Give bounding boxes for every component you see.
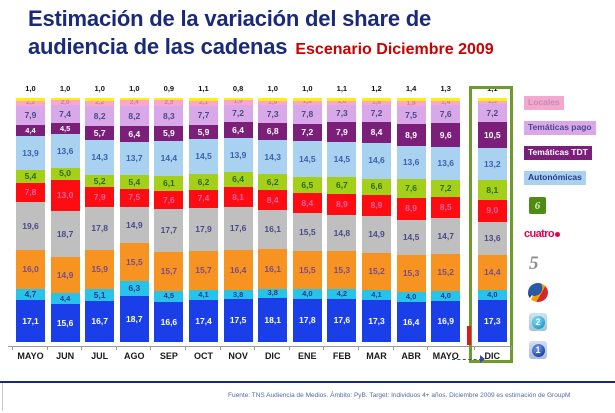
bar-segment[interactable]: 4,2 — [327, 289, 356, 299]
bar-segment[interactable]: 14,9 — [362, 216, 391, 252]
legend-item-antena3[interactable] — [528, 283, 614, 302]
bar-value-label: 8,2 — [128, 112, 140, 121]
x-axis-tick — [47, 346, 48, 350]
bar-segment[interactable]: 17,5 — [224, 299, 253, 342]
x-axis-tick — [254, 346, 255, 350]
bar-value-label: 15,3 — [334, 266, 351, 275]
bar-segment[interactable]: 14,5 — [189, 139, 218, 174]
bar-value-label: 15,5 — [299, 266, 316, 275]
bar-value-label: 8,4 — [371, 128, 383, 137]
chart-legend: Locales Temáticas pago Temáticas TDT Aut… — [524, 92, 614, 342]
bar-segment[interactable]: 16,6 — [154, 302, 183, 343]
bar-value-label: 7,8 — [301, 110, 313, 119]
bar-value-label: 19,6 — [22, 222, 39, 231]
bar-segment[interactable]: 7,2 — [224, 105, 253, 123]
bar-segment[interactable]: 17,8 — [85, 207, 114, 250]
bar-value-label: 15,5 — [299, 228, 316, 237]
bar-column[interactable]: 1,02,48,26,413,75,47,514,915,56,318,7 — [120, 98, 149, 342]
x-axis-tick — [116, 346, 117, 350]
bar-segment[interactable]: 8,1 — [224, 187, 253, 207]
bar-segment[interactable]: 15,2 — [431, 254, 460, 291]
bar-segment[interactable]: 16,0 — [16, 250, 45, 289]
title-line2-row: audiencia de las cadenasEscenario Diciem… — [28, 34, 588, 63]
bar-segment[interactable]: 5,4 — [16, 170, 45, 183]
bar-value-label: 14,3 — [264, 153, 281, 162]
bar-segment[interactable]: 14,9 — [120, 207, 149, 243]
bar-segment[interactable]: 15,7 — [154, 252, 183, 290]
bar-value-label: 16,0 — [22, 265, 39, 274]
bar-segment[interactable]: 17,7 — [154, 209, 183, 252]
bar-value-label: 17,6 — [230, 224, 247, 233]
bar-value-label: 6,6 — [371, 182, 383, 191]
bar-value-label: 7,9 — [94, 193, 106, 202]
bar-value-label: 7,5 — [128, 193, 140, 202]
bar-segment[interactable]: 14,4 — [154, 141, 183, 176]
bar-value-label: 5,4 — [25, 172, 37, 181]
bar-value-label: 4,0 — [302, 290, 312, 298]
bar-value-label: 8,9 — [405, 131, 417, 140]
la1-logo-icon: 1 — [529, 341, 547, 359]
bar-segment[interactable]: 4,4 — [16, 125, 45, 136]
bar-value-label: 8,4 — [301, 199, 313, 208]
bar-column[interactable]: 1,02,07,44,513,65,013,018,714,94,415,6 — [51, 98, 80, 342]
bar-segment[interactable]: 6,3 — [120, 281, 149, 296]
bar-segment[interactable]: 15,5 — [120, 243, 149, 281]
x-axis-tick — [81, 346, 82, 350]
bar-value-label: 7,2 — [232, 109, 244, 118]
bar-top-value-label: 1,4 — [397, 84, 426, 93]
bar-column[interactable]: 1,31,47,69,613,67,28,514,715,24,016,9 — [431, 98, 460, 342]
bar-value-label: 7,7 — [198, 111, 210, 120]
bar-value-label: 4,1 — [371, 291, 381, 299]
bar-segment[interactable]: 6,4 — [224, 122, 253, 138]
footer-divider — [0, 381, 615, 383]
bar-segment[interactable]: 7,3 — [327, 105, 356, 123]
bar-value-label: 14,5 — [334, 155, 351, 164]
bar-column[interactable]: 1,11,67,37,914,56,78,914,815,34,217,6 — [327, 98, 356, 342]
bar-value-label: 14,6 — [368, 156, 385, 165]
bar-segment[interactable]: 8,9 — [397, 198, 426, 220]
legend-item-locales[interactable]: Locales — [524, 92, 614, 110]
legend-item-cuatro[interactable]: cuatro — [524, 224, 614, 242]
bar-segment[interactable]: 16,9 — [431, 301, 460, 342]
legend-chip-locales: Locales — [524, 96, 564, 110]
bar-segment[interactable]: 6,4 — [224, 172, 253, 188]
bar-column[interactable]: 0,81,97,26,413,96,48,117,616,43,817,5 — [224, 98, 253, 342]
bar-segment[interactable]: 15,3 — [397, 255, 426, 292]
bar-value-label: 13,0 — [57, 191, 74, 200]
bar-value-label: 4,4 — [60, 295, 70, 303]
bar-column[interactable]: 1,02,28,25,714,35,27,917,815,95,116,7 — [85, 98, 114, 342]
bar-top-value-label: 1,0 — [293, 84, 322, 93]
bar-column[interactable]: 1,01,87,87,214,56,58,415,515,54,017,8 — [293, 98, 322, 342]
bar-column[interactable]: 0,92,38,35,914,46,17,617,715,74,516,6 — [154, 98, 183, 342]
page-title-line1: Estimación de la variación del share de — [28, 6, 588, 32]
bar-value-label: 16,1 — [264, 225, 281, 234]
bar-segment[interactable]: 8,5 — [431, 197, 460, 218]
bar-segment[interactable]: 14,8 — [327, 215, 356, 251]
bar-value-label: 16,4 — [230, 266, 247, 275]
lasexta-logo-icon: 6 — [529, 197, 546, 214]
bar-value-label: 5,9 — [198, 128, 210, 137]
bar-segment[interactable]: 15,9 — [85, 250, 114, 289]
bar-value-label: 15,6 — [57, 319, 74, 328]
bar-segment[interactable]: 9,6 — [431, 123, 460, 146]
bar-segment[interactable]: 7,5 — [397, 106, 426, 124]
bar-value-label: 15,2 — [368, 267, 385, 276]
bar-value-label: 9,6 — [440, 131, 452, 140]
bar-value-label: 14,4 — [161, 154, 178, 163]
bar-segment[interactable]: 8,4 — [362, 122, 391, 143]
bar-value-label: 7,2 — [301, 128, 313, 137]
bar-value-label: 8,4 — [267, 196, 279, 205]
bar-segment[interactable]: 7,9 — [327, 122, 356, 141]
bar-segment[interactable]: 7,4 — [189, 190, 218, 208]
bar-column[interactable]: 1,21,67,28,414,66,68,914,915,24,117,3 — [362, 98, 391, 342]
bar-segment[interactable]: 13,6 — [51, 134, 80, 167]
bar-segment[interactable]: 7,2 — [362, 105, 391, 123]
bar-segment[interactable]: 14,5 — [397, 220, 426, 255]
legend-item-lasexta[interactable]: 6 — [529, 197, 614, 214]
bar-segment[interactable]: 19,6 — [16, 202, 45, 250]
bar-value-label: 14,3 — [91, 153, 108, 162]
bar-segment[interactable]: 17,9 — [189, 208, 218, 252]
legend-item-tematicas-pago[interactable]: Temáticas pago — [524, 117, 614, 135]
bar-value-label: 16,9 — [437, 317, 454, 326]
bar-segment[interactable]: 17,6 — [224, 207, 253, 250]
bar-value-label: 13,6 — [57, 147, 74, 156]
bar-segment[interactable]: 8,9 — [327, 194, 356, 216]
bar-segment[interactable]: 8,9 — [362, 195, 391, 217]
bar-value-label: 17,3 — [368, 317, 385, 326]
bar-top-value-label: 1,1 — [327, 84, 356, 93]
bar-value-label: 8,2 — [94, 112, 106, 121]
bar-top-value-label: 0,8 — [224, 84, 253, 93]
bar-value-label: 5,2 — [94, 177, 106, 186]
bar-value-label: 17,8 — [299, 316, 316, 325]
bar-segment[interactable]: 3,8 — [224, 290, 253, 299]
bar-segment[interactable]: 5,0 — [51, 168, 80, 180]
telecinco-logo-icon: 5 — [529, 254, 550, 273]
bar-value-label: 15,9 — [91, 265, 108, 274]
bar-segment[interactable]: 18,1 — [258, 298, 287, 342]
bar-segment[interactable]: 17,6 — [327, 299, 356, 342]
bar-segment[interactable]: 6,8 — [258, 123, 287, 140]
bar-value-label: 4,0 — [440, 292, 450, 300]
bar-segment[interactable]: 16,7 — [85, 301, 114, 342]
legend-chip-tematicas-tdt: Temáticas TDT — [524, 146, 592, 160]
bar-value-label: 13,6 — [403, 158, 420, 167]
x-axis-tick — [511, 346, 512, 350]
bar-segment[interactable]: 8,4 — [293, 193, 322, 214]
x-axis-label: MAYO — [426, 351, 466, 361]
bar-value-label: 16,7 — [91, 317, 108, 326]
bar-segment[interactable]: 6,7 — [327, 177, 356, 193]
bar-segment[interactable]: 16,4 — [397, 302, 426, 342]
bar-segment[interactable]: 16,1 — [258, 210, 287, 249]
bar-value-label: 8,9 — [336, 200, 348, 209]
bar-segment[interactable]: 5,9 — [189, 125, 218, 139]
bar-value-label: 7,8 — [25, 188, 37, 197]
x-axis-tick — [358, 346, 359, 350]
bar-segment[interactable]: 7,7 — [189, 106, 218, 125]
x-axis-tick — [220, 346, 221, 350]
bar-segment[interactable]: 13,9 — [224, 138, 253, 172]
x-axis-tick — [427, 346, 428, 350]
bar-segment[interactable]: 7,2 — [431, 180, 460, 198]
bar-segment[interactable]: 17,1 — [16, 300, 45, 342]
bar-value-label: 13,9 — [22, 149, 39, 158]
bar-segment[interactable]: 7,6 — [397, 179, 426, 198]
stacked-bar-chart: 1,02,27,94,413,95,47,819,616,04,717,11,0… — [0, 84, 520, 346]
bar-value-label: 17,8 — [91, 224, 108, 233]
x-axis-tick — [185, 346, 186, 350]
bar-value-label: 6,2 — [267, 178, 279, 187]
bar-segment[interactable]: 5,9 — [154, 126, 183, 140]
bar-segment[interactable]: 8,9 — [397, 124, 426, 146]
bar-segment[interactable]: 14,5 — [327, 142, 356, 177]
bar-value-label: 13,9 — [230, 151, 247, 160]
bar-segment[interactable]: 17,8 — [293, 299, 322, 342]
bar-value-label: 17,4 — [195, 317, 212, 326]
legend-item-tematicas-tdt[interactable]: Temáticas TDT — [524, 142, 614, 160]
bar-value-label: 17,6 — [334, 316, 351, 325]
bar-segment[interactable]: 7,6 — [431, 105, 460, 124]
la2-logo-icon: 2 — [529, 313, 547, 331]
bar-value-label: 17,7 — [161, 226, 178, 235]
bar-value-label: 7,2 — [440, 184, 452, 193]
bar-value-label: 7,5 — [405, 111, 417, 120]
bar-value-label: 6,3 — [128, 284, 140, 293]
bar-segment[interactable]: 4,1 — [189, 290, 218, 300]
bar-value-label: 8,3 — [163, 112, 175, 121]
bar-segment[interactable]: 7,4 — [51, 105, 80, 123]
bar-column[interactable]: 1,01,97,36,814,36,28,416,116,13,818,1 — [258, 98, 287, 342]
x-axis-tick — [393, 346, 394, 350]
bar-value-label: 5,9 — [163, 129, 175, 138]
bar-value-label: 4,4 — [25, 127, 35, 135]
bar-segment[interactable]: 14,9 — [51, 257, 80, 293]
bar-value-label: 18,7 — [57, 230, 74, 239]
bar-top-value-label: 1,3 — [431, 84, 460, 93]
bar-segment[interactable]: 15,3 — [327, 251, 356, 288]
bar-segment[interactable]: 8,2 — [120, 106, 149, 126]
bar-value-label: 15,2 — [437, 268, 454, 277]
bar-segment[interactable]: 8,2 — [85, 106, 114, 126]
bar-value-label: 7,4 — [59, 110, 71, 119]
bar-value-label: 6,8 — [267, 127, 279, 136]
x-axis-tick — [289, 346, 290, 350]
bar-segment[interactable]: 13,0 — [51, 180, 80, 212]
bar-segment[interactable]: 17,4 — [189, 300, 218, 342]
bar-segment[interactable]: 4,1 — [362, 290, 391, 300]
bar-segment[interactable]: 7,8 — [16, 183, 45, 202]
bar-value-label: 14,9 — [57, 271, 74, 280]
bar-value-label: 4,5 — [60, 125, 70, 133]
bar-value-label: 14,5 — [195, 152, 212, 161]
bar-value-label: 15,3 — [403, 269, 420, 278]
legend-item-autonomicas[interactable]: Autonómicas — [524, 167, 614, 185]
bar-segment[interactable]: 6,2 — [189, 174, 218, 189]
bar-value-label: 15,7 — [195, 266, 212, 275]
bar-value-label: 4,1 — [198, 291, 208, 299]
bar-value-label: 5,4 — [128, 178, 140, 187]
december-highlight-box — [469, 86, 513, 363]
bar-value-label: 6,2 — [198, 178, 210, 187]
bar-segment[interactable]: 4,5 — [51, 123, 80, 134]
bar-value-label: 6,7 — [336, 181, 348, 190]
bar-segment[interactable]: 6,1 — [154, 176, 183, 191]
bar-segment[interactable]: 16,4 — [224, 250, 253, 290]
bar-value-label: 14,5 — [299, 155, 316, 164]
bar-segment[interactable]: 13,9 — [16, 136, 45, 170]
bar-column[interactable]: 1,02,27,94,413,95,47,819,616,04,717,1 — [16, 98, 45, 342]
bar-segment[interactable]: 15,5 — [293, 213, 322, 251]
bar-value-label: 18,1 — [264, 316, 281, 325]
bar-segment[interactable]: 4,0 — [431, 291, 460, 301]
bar-value-label: 3,8 — [267, 289, 277, 297]
bar-segment[interactable]: 14,3 — [85, 140, 114, 175]
bar-value-label: 7,6 — [163, 196, 175, 205]
x-axis-tick — [12, 346, 13, 350]
bar-segment[interactable]: 14,7 — [431, 218, 460, 254]
bar-value-label: 17,5 — [230, 316, 247, 325]
bar-column[interactable]: 1,12,17,75,914,56,27,417,915,74,117,4 — [189, 98, 218, 342]
bar-value-label: 4,0 — [406, 293, 416, 301]
bar-value-label: 14,9 — [368, 230, 385, 239]
red-marker — [467, 326, 471, 345]
bar-segment[interactable]: 7,8 — [293, 105, 322, 124]
bar-segment[interactable]: 15,2 — [362, 253, 391, 290]
bar-segment[interactable]: 16,1 — [258, 249, 287, 288]
bar-value-label: 4,5 — [164, 292, 174, 300]
bar-segment[interactable]: 4,7 — [16, 289, 45, 300]
bar-value-label: 8,5 — [440, 203, 452, 212]
bar-value-label: 7,6 — [405, 184, 417, 193]
legend-chip-autonomicas: Autonómicas — [524, 171, 586, 185]
bar-segment[interactable]: 6,6 — [362, 179, 391, 195]
bar-value-label: 17,1 — [22, 317, 39, 326]
bar-segment[interactable]: 15,5 — [293, 251, 322, 289]
bar-segment[interactable]: 14,6 — [362, 143, 391, 179]
bar-segment[interactable]: 14,3 — [258, 140, 287, 175]
bar-segment[interactable]: 8,4 — [258, 190, 287, 211]
bar-segment[interactable]: 18,7 — [51, 211, 80, 257]
bar-value-label: 8,1 — [232, 193, 244, 202]
bar-value-label: 17,9 — [195, 225, 212, 234]
bar-value-label: 5,1 — [94, 291, 106, 300]
bar-segment[interactable]: 14,5 — [293, 141, 322, 176]
bar-segment[interactable]: 17,3 — [362, 300, 391, 342]
footer-left-edge — [2, 383, 3, 411]
bar-segment[interactable]: 7,9 — [16, 106, 45, 125]
bar-segment[interactable]: 13,7 — [120, 142, 149, 175]
bar-segment[interactable]: 4,0 — [293, 289, 322, 299]
bar-top-value-label: 1,2 — [362, 84, 391, 93]
bar-segment[interactable]: 7,5 — [120, 189, 149, 207]
bar-value-label: 6,4 — [232, 126, 244, 135]
x-axis-tick — [323, 346, 324, 350]
page-title-line2: audiencia de las cadenas — [28, 34, 287, 59]
bar-value-label: 14,9 — [126, 221, 143, 230]
bar-value-label: 5,0 — [59, 169, 71, 178]
bar-top-value-label: 1,0 — [85, 84, 114, 93]
bar-segment[interactable]: 7,6 — [154, 191, 183, 210]
source-footnote: Fuente: TNS Audiencia de Medios. Ámbito:… — [228, 392, 570, 399]
legend-chip-tematicas-pago: Temáticas pago — [524, 121, 596, 135]
legend-item-telecinco[interactable]: 5 — [529, 254, 614, 273]
bar-segment[interactable]: 18,7 — [120, 296, 149, 342]
bar-segment[interactable]: 7,3 — [258, 105, 287, 123]
bar-value-label: 16,4 — [403, 318, 420, 327]
bar-segment[interactable]: 7,2 — [293, 124, 322, 142]
bar-value-label: 7,2 — [371, 109, 383, 118]
bar-value-label: 14,8 — [334, 229, 351, 238]
legend-item-la2[interactable]: 2 — [529, 313, 614, 331]
bar-segment[interactable]: 6,2 — [258, 174, 287, 189]
bar-value-label: 6,4 — [232, 175, 244, 184]
bar-value-label: 13,6 — [437, 159, 454, 168]
bar-segment[interactable]: 13,6 — [431, 147, 460, 180]
bar-value-label: 6,5 — [301, 181, 313, 190]
bar-value-label: 4,7 — [25, 290, 37, 299]
bar-value-label: 7,6 — [440, 110, 452, 119]
bar-value-label: 8,9 — [371, 201, 383, 210]
bar-value-label: 15,5 — [126, 258, 143, 267]
bar-value-label: 3,8 — [233, 291, 243, 299]
bar-segment[interactable]: 4,4 — [51, 293, 80, 304]
bar-segment[interactable]: 6,4 — [120, 126, 149, 142]
bar-segment[interactable]: 8,3 — [154, 106, 183, 126]
bar-segment[interactable]: 6,5 — [293, 177, 322, 193]
bar-top-value-label: 1,0 — [51, 84, 80, 93]
bar-segment[interactable]: 3,8 — [258, 289, 287, 298]
x-axis-labels: MAYOJUNJULAGOSEPOCTNOVDICENEFEBMARABRMAY… — [0, 351, 520, 369]
bar-top-value-label: 1,0 — [258, 84, 287, 93]
bar-segment[interactable]: 4,5 — [154, 291, 183, 302]
antena3-logo-icon — [528, 283, 548, 302]
bar-segment[interactable]: 13,6 — [397, 146, 426, 179]
bar-segment[interactable]: 5,4 — [120, 175, 149, 188]
x-axis-line — [8, 346, 510, 347]
bar-value-label: 6,1 — [163, 179, 175, 188]
bar-value-label: 18,7 — [126, 315, 143, 324]
bar-value-label: 7,3 — [336, 109, 348, 118]
bar-value-label: 16,6 — [161, 318, 178, 327]
bar-top-value-label: 0,9 — [154, 84, 183, 93]
bar-column[interactable]: 1,41,97,58,913,67,68,914,515,34,016,4 — [397, 98, 426, 342]
bar-segment[interactable]: 15,7 — [189, 251, 218, 289]
x-axis-tick — [150, 346, 151, 350]
bar-value-label: 7,4 — [198, 194, 210, 203]
bar-value-label: 13,7 — [126, 154, 143, 163]
bar-value-label: 15,7 — [161, 267, 178, 276]
bar-segment[interactable]: 5,2 — [85, 175, 114, 188]
bar-top-value-label: 1,0 — [16, 84, 45, 93]
bar-segment[interactable]: 15,6 — [51, 304, 80, 342]
bar-top-value-label: 1,0 — [120, 84, 149, 93]
bar-value-label: 8,9 — [405, 204, 417, 213]
bar-segment[interactable]: 4,0 — [397, 292, 426, 302]
bar-segment[interactable]: 7,9 — [85, 187, 114, 206]
bar-value-label: 7,9 — [25, 111, 37, 120]
legend-item-la1[interactable]: 1 — [529, 341, 614, 359]
bar-segment[interactable]: 5,1 — [85, 289, 114, 301]
x-axis-label: DIC — [472, 351, 512, 361]
page-subtitle: Escenario Diciembre 2009 — [295, 41, 493, 58]
bar-value-label: 16,1 — [264, 265, 281, 274]
bar-segment[interactable]: 5,7 — [85, 126, 114, 140]
